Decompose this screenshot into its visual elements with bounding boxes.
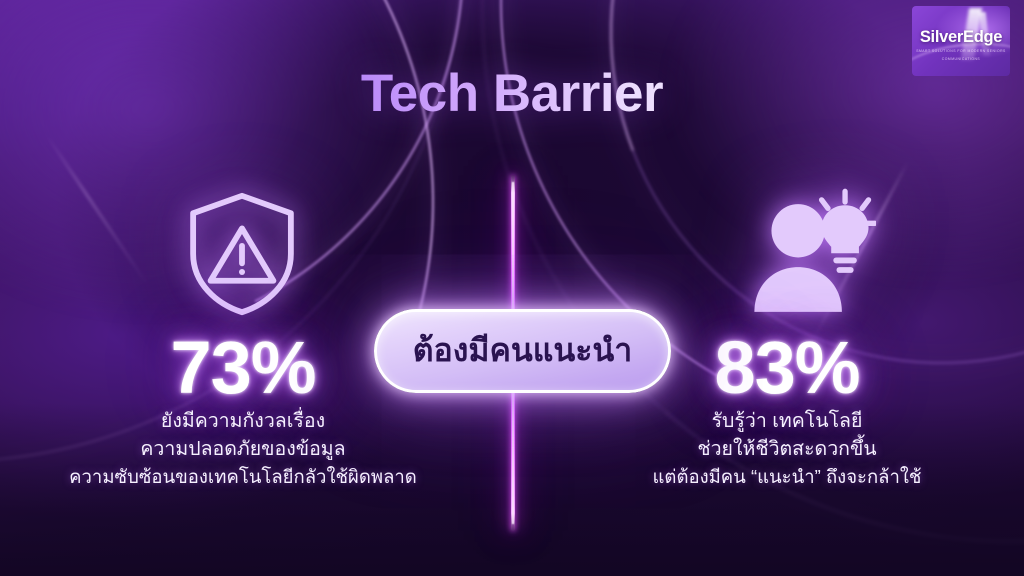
brand-name: SilverEdge <box>920 29 1002 46</box>
stat-line: ช่วยให้ชีวิตสะดวกขึ้น <box>562 436 1012 464</box>
brand-tagline-secondary: COMMUNICATIONS <box>942 57 980 62</box>
page-title: Tech Barrier <box>0 63 1024 124</box>
stat-description-left: ยังมีความกังวลเรื่อง ความปลอดภัยของข้อมู… <box>18 408 468 490</box>
center-badge: ต้องมีคนแนะนำ <box>374 309 671 393</box>
person-lightbulb-icon <box>748 186 876 314</box>
slide-canvas: SilverEdge SMART SOLUTIONS FOR MODERN SE… <box>0 0 1024 576</box>
center-badge-label: ต้องมีคนแนะนำ <box>413 334 633 369</box>
shield-warning-icon <box>183 190 301 318</box>
stat-line: รับรู้ว่า เทคโนโลยี <box>562 408 1012 436</box>
stat-line: ความซับซ้อนของเทคโนโลยีกลัวใช้ผิดพลาด <box>18 464 468 490</box>
stat-line: แต่ต้องมีคน “แนะนำ” ถึงจะกล้าใช้ <box>562 464 1012 490</box>
stat-line: ความปลอดภัยของข้อมูล <box>18 436 468 464</box>
stat-line: ยังมีความกังวลเรื่อง <box>18 408 468 436</box>
stat-description-right: รับรู้ว่า เทคโนโลยี ช่วยให้ชีวิตสะดวกขึ้… <box>562 408 1012 490</box>
brand-tagline: SMART SOLUTIONS FOR MODERN SENIORS <box>916 49 1006 54</box>
